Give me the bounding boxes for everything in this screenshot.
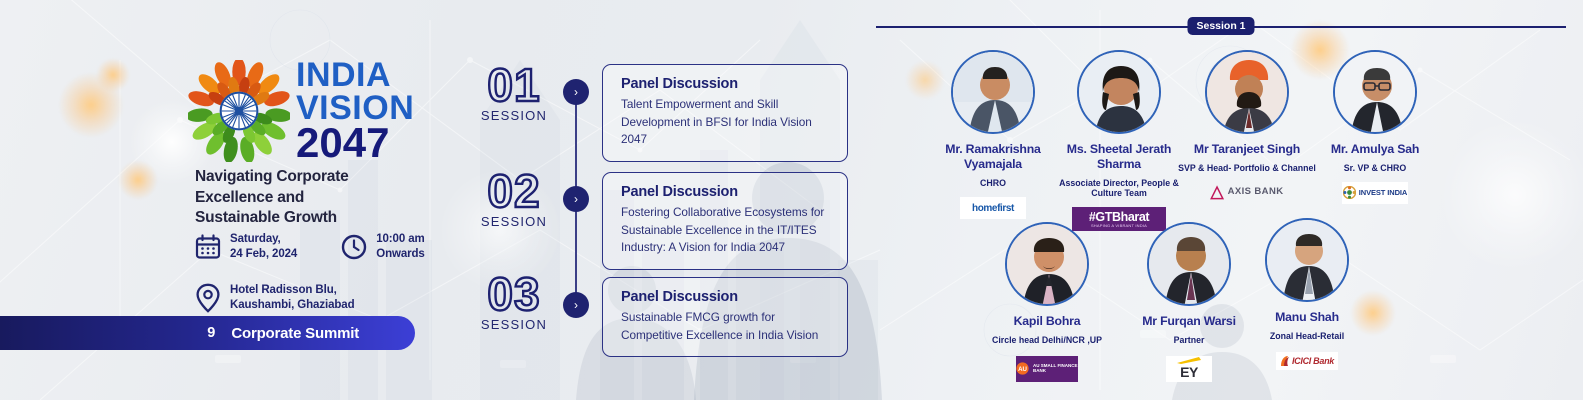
session-item-03: 03 SESSION bbox=[470, 273, 558, 332]
speaker-photo bbox=[1007, 224, 1089, 306]
brand-logo: INDIA VISION 2047 bbox=[188, 58, 414, 164]
invest-india-logo: INVEST INDIA bbox=[1342, 182, 1408, 204]
speaker-photo bbox=[1335, 52, 1417, 134]
session-number: 03 bbox=[470, 273, 558, 315]
event-info-panel: INDIA VISION 2047 Navigating Corporate E… bbox=[0, 0, 470, 400]
avatar bbox=[1333, 50, 1417, 134]
avatar bbox=[1265, 218, 1349, 302]
session-badge: Session 1 bbox=[1187, 17, 1254, 35]
logo-year-text: 2047 bbox=[296, 122, 414, 164]
company-name: EY bbox=[1180, 364, 1198, 380]
session-card-title: Panel Discussion bbox=[621, 289, 831, 305]
company-name: ICICI Bank bbox=[1292, 356, 1334, 366]
company-name: homefirst bbox=[972, 203, 1014, 214]
ey-slash-icon bbox=[1177, 357, 1201, 364]
location-pin-icon bbox=[195, 283, 221, 313]
event-datetime-row: Saturday, 24 Feb, 2024 10:00 am Onwards bbox=[195, 232, 425, 263]
session-number: 02 bbox=[470, 170, 558, 212]
session-card-body: Talent Empowerment and Skill Development… bbox=[621, 96, 831, 149]
summit-edition-number: 9 bbox=[207, 325, 215, 341]
axis-bank-mark-icon: △ bbox=[1211, 183, 1224, 200]
speaker-photo bbox=[953, 52, 1035, 134]
session-card-body: Fostering Collaborative Ecosystems for S… bbox=[621, 204, 831, 257]
company-name: AXIS BANK bbox=[1228, 186, 1284, 197]
sessions-timeline: 01 SESSION › Panel Discussion Talent Emp… bbox=[470, 0, 870, 400]
session-item-02: 02 SESSION bbox=[470, 170, 558, 229]
session-card-01[interactable]: Panel Discussion Talent Empowerment and … bbox=[602, 64, 848, 162]
invest-india-emblem-icon bbox=[1343, 186, 1356, 199]
speaker-name: Manu Shah bbox=[1232, 310, 1382, 325]
calendar-icon bbox=[195, 234, 221, 260]
avatar bbox=[1005, 222, 1089, 306]
svg-text:AU: AU bbox=[1018, 366, 1027, 373]
speaker-photo bbox=[1267, 220, 1349, 302]
speaker-card-5[interactable]: Kapil Bohra Circle head Delhi/NCR ,UP AU… bbox=[972, 222, 1122, 382]
speakers-panel: Session 1 Mr. Ramakrishna Vyamajala CHRO… bbox=[862, 0, 1583, 400]
clock-icon bbox=[341, 234, 367, 260]
chevron-right-icon[interactable]: › bbox=[563, 292, 589, 318]
session-card-body: Sustainable FMCG growth for Competitive … bbox=[621, 309, 831, 344]
chevron-right-icon[interactable]: › bbox=[563, 186, 589, 212]
speaker-title: Circle head Delhi/NCR ,UP bbox=[972, 335, 1122, 346]
speaker-card-7[interactable]: Manu Shah Zonal Head-Retail ICICI Bank bbox=[1232, 218, 1382, 370]
corporate-summit-bar[interactable]: 9 Corporate Summit bbox=[0, 316, 415, 350]
speaker-name: Kapil Bohra bbox=[972, 314, 1122, 329]
au-circle-icon: AU bbox=[1016, 360, 1029, 377]
icici-mark-icon bbox=[1280, 355, 1290, 367]
speaker-card-4[interactable]: Mr. Amulya Sah Sr. VP & CHRO INVEST INDI… bbox=[1300, 50, 1450, 204]
event-date: Saturday, 24 Feb, 2024 bbox=[230, 232, 297, 263]
session-card-03[interactable]: Panel Discussion Sustainable FMCG growth… bbox=[602, 277, 848, 357]
session-word: SESSION bbox=[470, 108, 558, 123]
chevron-right-icon[interactable]: › bbox=[563, 79, 589, 105]
company-name: AU SMALL FINANCE BANK bbox=[1033, 364, 1078, 374]
speaker-title: Sr. VP & CHRO bbox=[1300, 163, 1450, 174]
session-number: 01 bbox=[470, 64, 558, 106]
summit-label: Corporate Summit bbox=[231, 325, 359, 342]
event-venue-row: Hotel Radisson Blu, Kaushambi, Ghaziabad bbox=[195, 283, 425, 314]
event-meta: Saturday, 24 Feb, 2024 10:00 am Onwards … bbox=[195, 232, 425, 313]
india-chakra-flower-icon bbox=[188, 60, 290, 162]
logo-india-text: INDIA bbox=[296, 60, 414, 92]
avatar bbox=[1077, 50, 1161, 134]
company-name: INVEST INDIA bbox=[1359, 188, 1407, 197]
avatar bbox=[1205, 50, 1289, 134]
event-time: 10:00 am Onwards bbox=[376, 232, 425, 263]
session-item-01: 01 SESSION bbox=[470, 64, 558, 123]
session-word: SESSION bbox=[470, 214, 558, 229]
homefirst-logo: homefirst bbox=[960, 197, 1026, 219]
avatar bbox=[951, 50, 1035, 134]
speaker-photo bbox=[1149, 224, 1231, 306]
session-card-02[interactable]: Panel Discussion Fostering Collaborative… bbox=[602, 172, 848, 270]
session-card-title: Panel Discussion bbox=[621, 76, 831, 92]
event-venue: Hotel Radisson Blu, Kaushambi, Ghaziabad bbox=[230, 283, 355, 314]
avatar bbox=[1147, 222, 1231, 306]
speaker-photo bbox=[1079, 52, 1161, 134]
ey-logo: EY bbox=[1166, 356, 1212, 382]
speaker-title: Zonal Head-Retail bbox=[1232, 331, 1382, 342]
axis-bank-logo: △ AXIS BANK bbox=[1208, 182, 1286, 202]
event-tagline: Navigating Corporate Excellence and Sust… bbox=[195, 167, 349, 229]
speaker-name: Mr. Amulya Sah bbox=[1300, 142, 1450, 157]
icici-bank-logo: ICICI Bank bbox=[1276, 352, 1338, 370]
au-small-finance-bank-logo: AU AU SMALL FINANCE BANK bbox=[1016, 356, 1078, 382]
speaker-photo bbox=[1207, 52, 1289, 134]
session-word: SESSION bbox=[470, 317, 558, 332]
session-card-title: Panel Discussion bbox=[621, 184, 831, 200]
